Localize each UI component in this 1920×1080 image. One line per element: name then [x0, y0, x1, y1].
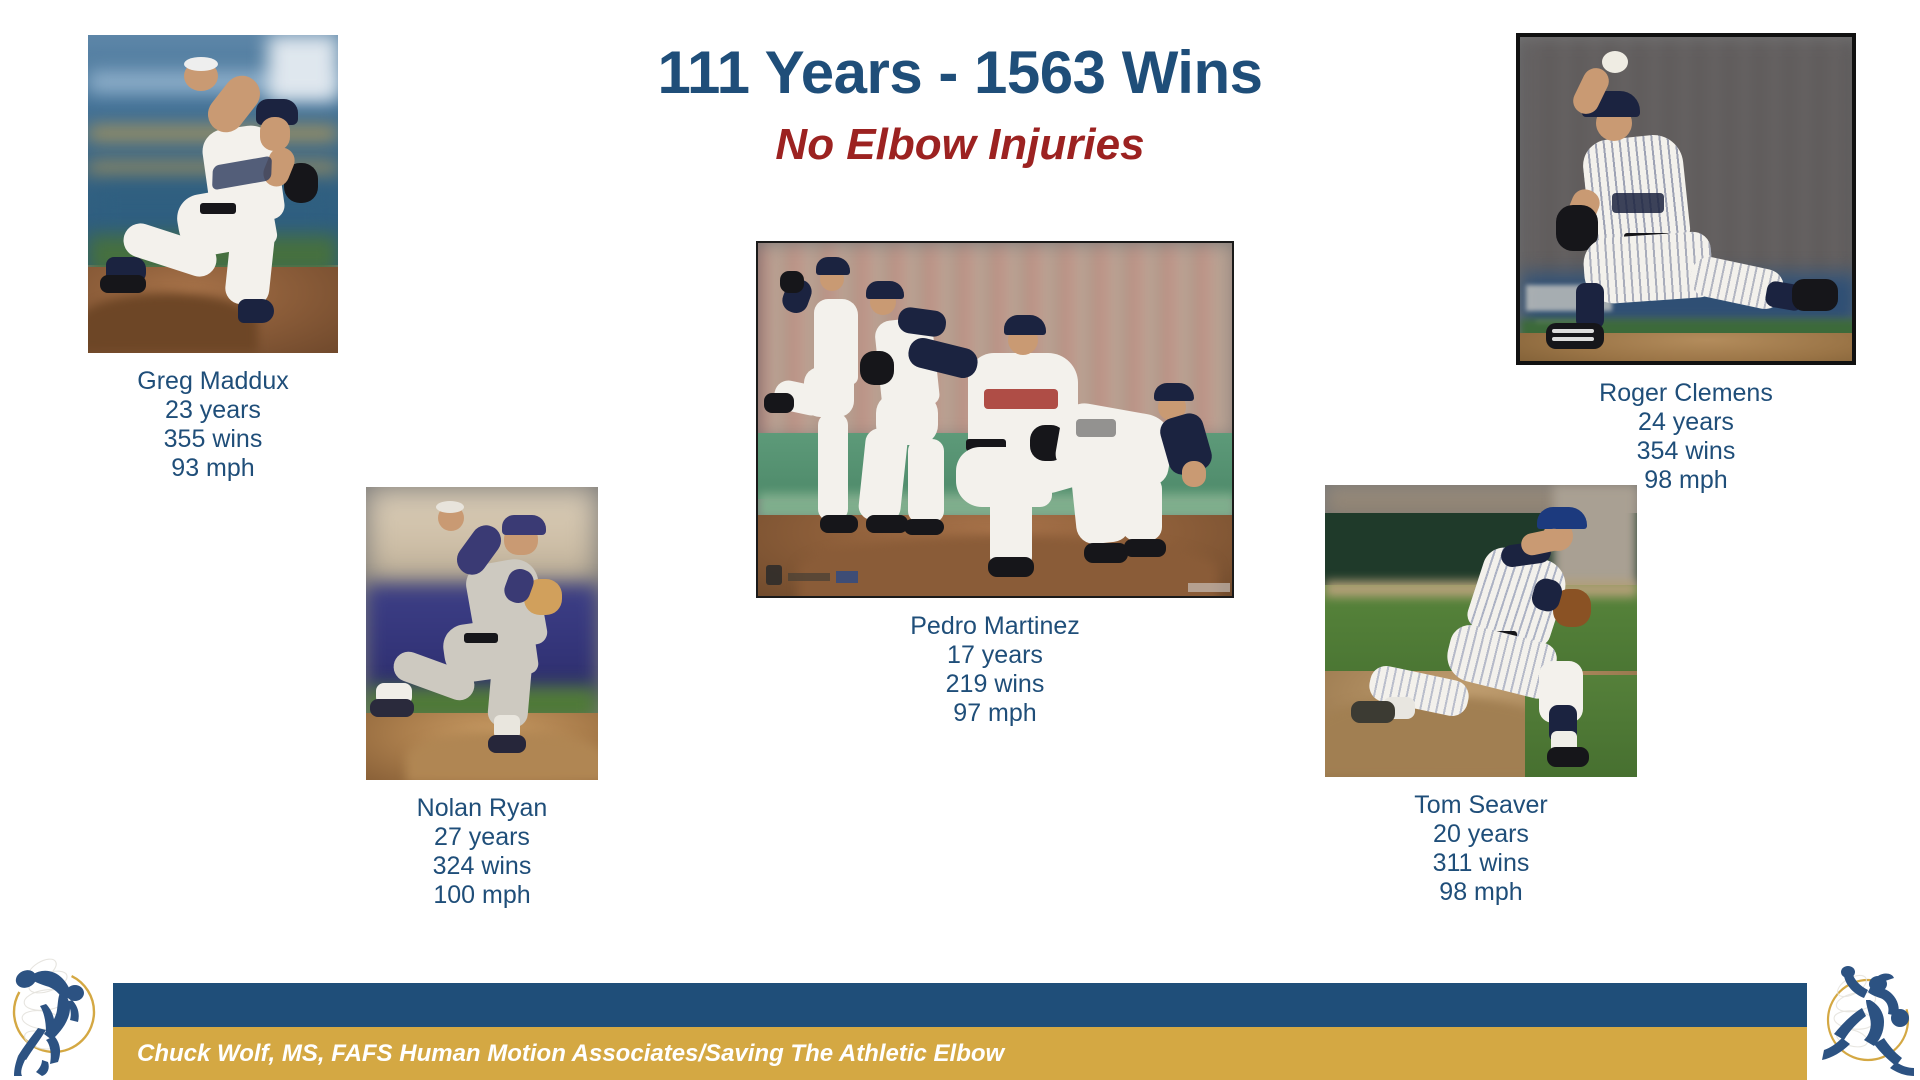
- player-years: 23 years: [88, 396, 338, 425]
- discus-thrower-icon: [2, 948, 110, 1080]
- caption-roger-clemens: Roger Clemens 24 years 354 wins 98 mph: [1516, 379, 1856, 495]
- discus-thrower-logo: [2, 948, 110, 1080]
- player-velocity: 97 mph: [756, 699, 1234, 728]
- player-wins: 355 wins: [88, 425, 338, 454]
- player-years: 27 years: [366, 823, 598, 852]
- baseball-pitcher-icon: [1808, 958, 1920, 1080]
- player-name: Tom Seaver: [1325, 791, 1637, 820]
- footer-bar-blue: [113, 983, 1807, 1027]
- player-name: Nolan Ryan: [366, 794, 598, 823]
- slide-canvas: 111 Years - 1563 Wins No Elbow Injuries: [0, 0, 1920, 1080]
- player-name: Greg Maddux: [88, 367, 338, 396]
- caption-nolan-ryan: Nolan Ryan 27 years 324 wins 100 mph: [366, 794, 598, 910]
- player-years: 17 years: [756, 641, 1234, 670]
- photo-greg-maddux: [88, 35, 338, 353]
- player-name: Roger Clemens: [1516, 379, 1856, 408]
- player-card-roger-clemens: Roger Clemens 24 years 354 wins 98 mph: [1516, 33, 1856, 495]
- player-velocity: 93 mph: [88, 454, 338, 483]
- footer-credit: Chuck Wolf, MS, FAFS Human Motion Associ…: [137, 1040, 1004, 1068]
- player-card-nolan-ryan: Nolan Ryan 27 years 324 wins 100 mph: [366, 487, 598, 910]
- photo-tom-seaver: [1325, 485, 1637, 777]
- player-card-pedro-martinez: Pedro Martinez 17 years 219 wins 97 mph: [756, 241, 1234, 728]
- player-wins: 219 wins: [756, 670, 1234, 699]
- player-wins: 354 wins: [1516, 437, 1856, 466]
- caption-pedro-martinez: Pedro Martinez 17 years 219 wins 97 mph: [756, 612, 1234, 728]
- caption-tom-seaver: Tom Seaver 20 years 311 wins 98 mph: [1325, 791, 1637, 907]
- player-card-greg-maddux: Greg Maddux 23 years 355 wins 93 mph: [88, 35, 338, 483]
- player-velocity: 100 mph: [366, 881, 598, 910]
- photo-roger-clemens: [1516, 33, 1856, 365]
- caption-greg-maddux: Greg Maddux 23 years 355 wins 93 mph: [88, 367, 338, 483]
- player-years: 24 years: [1516, 408, 1856, 437]
- player-wins: 324 wins: [366, 852, 598, 881]
- photo-nolan-ryan: [366, 487, 598, 780]
- player-wins: 311 wins: [1325, 849, 1637, 878]
- player-years: 20 years: [1325, 820, 1637, 849]
- player-name: Pedro Martinez: [756, 612, 1234, 641]
- baseball-pitcher-logo: [1808, 958, 1920, 1080]
- player-velocity: 98 mph: [1516, 466, 1856, 495]
- photo-pedro-martinez: [756, 241, 1234, 598]
- player-card-tom-seaver: Tom Seaver 20 years 311 wins 98 mph: [1325, 485, 1637, 907]
- player-velocity: 98 mph: [1325, 878, 1637, 907]
